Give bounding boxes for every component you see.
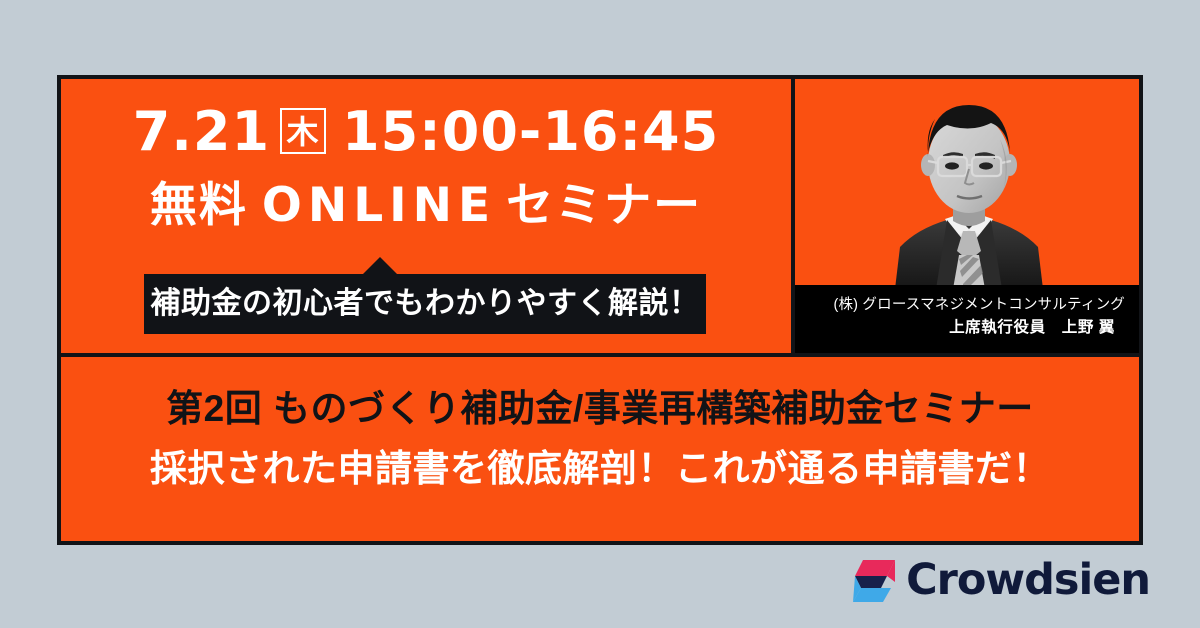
- crowdsien-wordmark: Crowdsien: [906, 559, 1150, 602]
- seminar-label: セミナー: [506, 178, 702, 231]
- speaker-title-name: 上席執行役員 上野 翼: [795, 316, 1125, 341]
- event-datetime-line: 7.21木15:00-16:45: [61, 105, 791, 159]
- panel-lower-section: 第2回 ものづくり補助金/事業再構築補助金セミナー 採択された申請書を徹底解剖！…: [61, 357, 1139, 541]
- seminar-banner-panel: 7.21木15:00-16:45 無料ONLINEセミナー 補助金の初心者でもわ…: [57, 75, 1143, 545]
- event-time: 15:00-16:45: [342, 100, 719, 163]
- speaker-company: (株) グロースマネジメントコンサルティング: [795, 294, 1125, 316]
- triangle-pointer-icon: [362, 257, 398, 275]
- speaker-column: (株) グロースマネジメントコンサルティング 上席執行役員 上野 翼: [795, 79, 1139, 353]
- speaker-portrait-illustration: [795, 79, 1139, 285]
- day-of-week-badge: 木: [280, 108, 326, 154]
- event-date: 7.21: [133, 100, 270, 163]
- free-label: 無料: [150, 178, 248, 231]
- crowdsien-logo[interactable]: Crowdsien: [851, 556, 1150, 604]
- seminar-title-line-2: 採択された申請書を徹底解剖！これが通る申請書だ！: [61, 450, 1139, 487]
- speaker-photo: [795, 79, 1139, 285]
- crowdsien-s-mark-icon: [851, 558, 897, 602]
- free-online-seminar-line: 無料ONLINEセミナー: [61, 181, 791, 229]
- sub-banner-wrapper: 補助金の初心者でもわかりやすく解説！: [144, 274, 706, 334]
- speaker-caption: (株) グロースマネジメントコンサルティング 上席執行役員 上野 翼: [795, 285, 1139, 353]
- online-label: ONLINE: [262, 178, 496, 233]
- seminar-title-line-1: 第2回 ものづくり補助金/事業再構築補助金セミナー: [61, 390, 1139, 427]
- panel-upper-section: 7.21木15:00-16:45 無料ONLINEセミナー 補助金の初心者でもわ…: [61, 79, 1139, 357]
- event-info-column: 7.21木15:00-16:45 無料ONLINEセミナー 補助金の初心者でもわ…: [61, 79, 795, 353]
- sub-banner-text: 補助金の初心者でもわかりやすく解説！: [144, 274, 706, 334]
